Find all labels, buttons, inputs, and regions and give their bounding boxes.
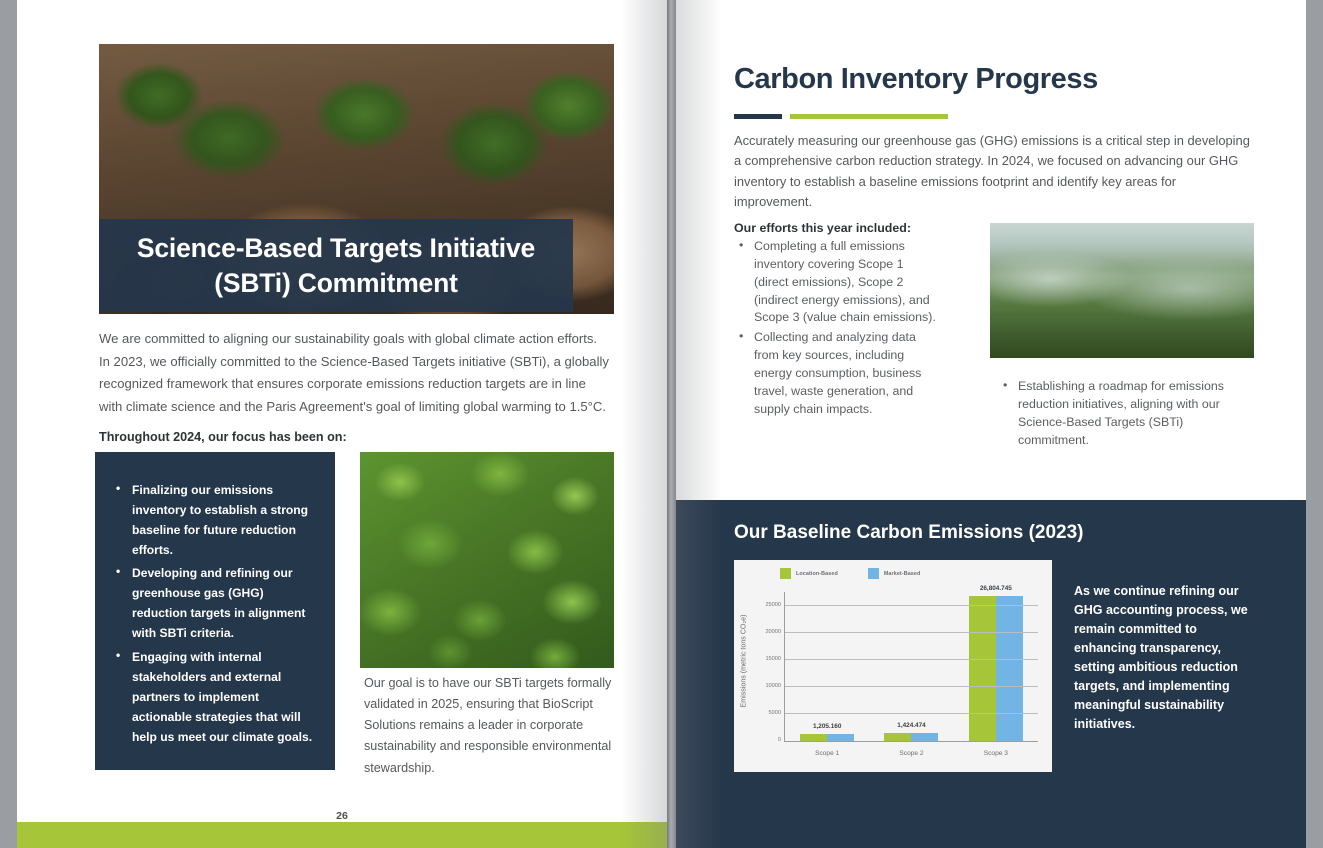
chart-gridline: 20000 xyxy=(785,632,1038,633)
list-item: Engaging with internal stakeholders and … xyxy=(109,647,317,747)
list-item: Completing a full emissions inventory co… xyxy=(734,238,936,327)
list-item: Collecting and analyzing data from key s… xyxy=(734,329,936,418)
chart-data-label: 1,424.474 xyxy=(869,722,953,729)
leaf-photo-caption: Our goal is to have our SBTi targets for… xyxy=(364,673,612,779)
intro-paragraph: Accurately measuring our greenhouse gas … xyxy=(734,131,1254,213)
legend-label-market-based: Market-Based xyxy=(884,571,921,577)
chart-x-tick-label: Scope 1 xyxy=(785,750,869,757)
page-left: Science-Based Targets Initiative (SBTi) … xyxy=(17,0,667,848)
chart-legend: Location-Based Market-Based xyxy=(780,568,920,579)
chart-plot-area: 1,205.160Scope 11,424.474Scope 226,804.7… xyxy=(784,592,1038,742)
tree-canopy-photo-fill xyxy=(360,452,614,668)
y-axis-title: Emissions (metric tons CO₂e) xyxy=(737,596,751,726)
focus-bullets-panel: Finalizing our emissions inventory to es… xyxy=(95,452,335,770)
page-number-left: 26 xyxy=(17,810,667,822)
page-right: Carbon Inventory Progress Accurately mea… xyxy=(676,0,1306,848)
focus-bullet-list: Finalizing our emissions inventory to es… xyxy=(109,480,317,747)
title-rule xyxy=(734,114,948,119)
title-rule-green xyxy=(790,114,948,119)
y-axis-title-text: Emissions (metric tons CO₂e) xyxy=(740,614,748,707)
title-rule-dark xyxy=(734,114,782,119)
legend-label-location-based: Location-Based xyxy=(796,571,838,577)
chart-gridline: 5000 xyxy=(785,713,1038,714)
chart-x-tick-label: Scope 2 xyxy=(869,750,953,757)
book-spine xyxy=(667,0,676,848)
emissions-bar-chart: Location-Based Market-Based Emissions (m… xyxy=(734,560,1052,772)
legend-item-market-based: Market-Based xyxy=(868,568,921,579)
hero-image-block: Science-Based Targets Initiative (SBTi) … xyxy=(99,44,614,314)
chart-bar-group: 1,424.474Scope 2 xyxy=(869,592,953,741)
chart-gridline: 10000 xyxy=(785,686,1038,687)
chart-y-tick-label: 5000 xyxy=(769,710,781,716)
chart-data-label: 1,205.160 xyxy=(785,723,869,730)
sbti-body-paragraph: We are committed to aligning our sustain… xyxy=(99,328,611,418)
focus-lead-text: Throughout 2024, our focus has been on: xyxy=(99,430,519,444)
hero-title: Science-Based Targets Initiative (SBTi) … xyxy=(99,231,573,301)
chart-gridline: 25000 xyxy=(785,605,1038,606)
chart-bar-group: 1,205.160Scope 1 xyxy=(785,592,869,741)
footer-green-band-left xyxy=(17,822,667,848)
chart-x-tick-label: Scope 3 xyxy=(954,750,1038,757)
list-item: Developing and refining our greenhouse g… xyxy=(109,563,317,643)
chart-data-label: 26,804.745 xyxy=(954,585,1038,592)
hero-title-band: Science-Based Targets Initiative (SBTi) … xyxy=(99,219,573,312)
tree-canopy-photo xyxy=(360,452,614,668)
panel-note-text: As we continue refining our GHG accounti… xyxy=(1074,582,1259,734)
document-spread: Science-Based Targets Initiative (SBTi) … xyxy=(0,0,1323,848)
chart-gridline: 0 xyxy=(785,740,1038,741)
gutter-shadow-left xyxy=(621,0,667,848)
chart-y-tick-label: 0 xyxy=(778,737,781,743)
chart-y-tick-label: 20000 xyxy=(765,629,781,635)
legend-swatch-location-based xyxy=(780,568,791,579)
panel-title: Our Baseline Carbon Emissions (2023) xyxy=(734,522,1084,544)
efforts-bullet-list: Completing a full emissions inventory co… xyxy=(734,238,936,421)
efforts-lead-text: Our efforts this year included: xyxy=(734,221,911,235)
chart-gridline: 15000 xyxy=(785,659,1038,660)
chart-bar-group: 26,804.745Scope 3 xyxy=(954,592,1038,741)
roadmap-bullet-list: Establishing a roadmap for emissions red… xyxy=(998,378,1250,451)
forest-hills-photo xyxy=(990,223,1254,358)
list-item: Establishing a roadmap for emissions red… xyxy=(998,378,1250,449)
forest-hills-photo-fill xyxy=(990,223,1254,358)
chart-bar-location-based[interactable] xyxy=(969,596,996,741)
chart-y-tick-label: 25000 xyxy=(765,602,781,608)
chart-y-tick-label: 15000 xyxy=(765,656,781,662)
legend-item-location-based: Location-Based xyxy=(780,568,838,579)
emissions-panel: Our Baseline Carbon Emissions (2023) Loc… xyxy=(676,500,1306,848)
legend-swatch-market-based xyxy=(868,568,879,579)
chart-y-tick-label: 10000 xyxy=(765,683,781,689)
list-item: Finalizing our emissions inventory to es… xyxy=(109,480,317,560)
chart-bar-groups: 1,205.160Scope 11,424.474Scope 226,804.7… xyxy=(785,592,1038,741)
chart-bar-market-based[interactable] xyxy=(996,596,1023,741)
page-title: Carbon Inventory Progress xyxy=(734,63,1098,96)
